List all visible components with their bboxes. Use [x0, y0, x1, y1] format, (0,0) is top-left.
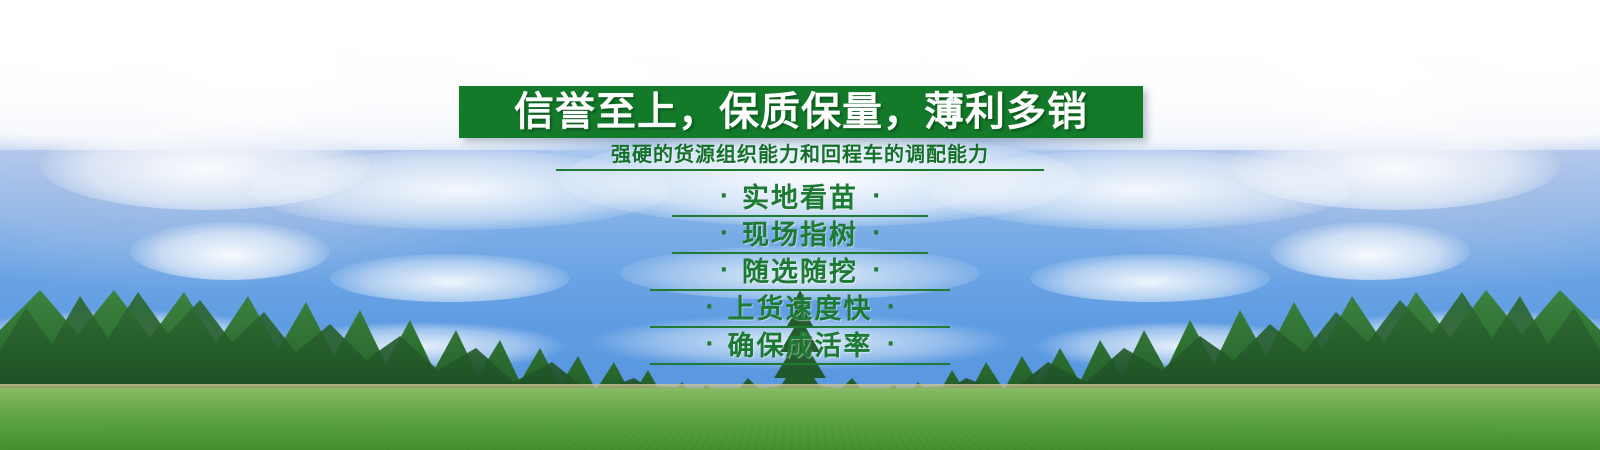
feature-label: 现场指树 [742, 222, 858, 249]
feature-row: · 确保成活率 · [0, 328, 1600, 365]
headline-text: 信誉至上，保质保量，薄利多销 [514, 92, 1088, 132]
field-furrows [0, 417, 1600, 450]
bullet-dot-left: · [720, 260, 728, 282]
feature-label: 随选随挖 [742, 259, 858, 286]
bullet-dot-right: · [872, 260, 880, 282]
feature-row: · 上货速度快 · [0, 291, 1600, 328]
bullet-dot-right: · [872, 186, 880, 208]
feature-row: · 随选随挖 · [0, 254, 1600, 291]
feature-label: 实地看苗 [742, 185, 858, 212]
subtitle-text: 强硬的货源组织能力和回程车的调配能力 [0, 143, 1600, 166]
crop-field [0, 388, 1600, 450]
headline-banner-bar: 信誉至上，保质保量，薄利多销 [459, 86, 1143, 138]
bullet-dot-left: · [720, 186, 728, 208]
feature-label: 确保成活率 [728, 333, 873, 360]
bullet-dot-left: · [720, 223, 728, 245]
bullet-dot-left: · [705, 297, 713, 319]
bullet-dot-right: · [887, 334, 895, 356]
bullet-dot-right: · [887, 297, 895, 319]
feature-label: 上货速度快 [728, 296, 873, 323]
feature-underline [650, 363, 950, 365]
bullet-dot-right: · [872, 223, 880, 245]
feature-list: · 实地看苗 · · 现场指树 · · 随选随挖 · · 上货速度快 · [0, 180, 1600, 365]
promo-banner: 信誉至上，保质保量，薄利多销 强硬的货源组织能力和回程车的调配能力 · 实地看苗… [0, 0, 1600, 450]
subtitle-underline [556, 169, 1044, 171]
feature-row: · 实地看苗 · [0, 180, 1600, 217]
bullet-dot-left: · [705, 334, 713, 356]
feature-row: · 现场指树 · [0, 217, 1600, 254]
